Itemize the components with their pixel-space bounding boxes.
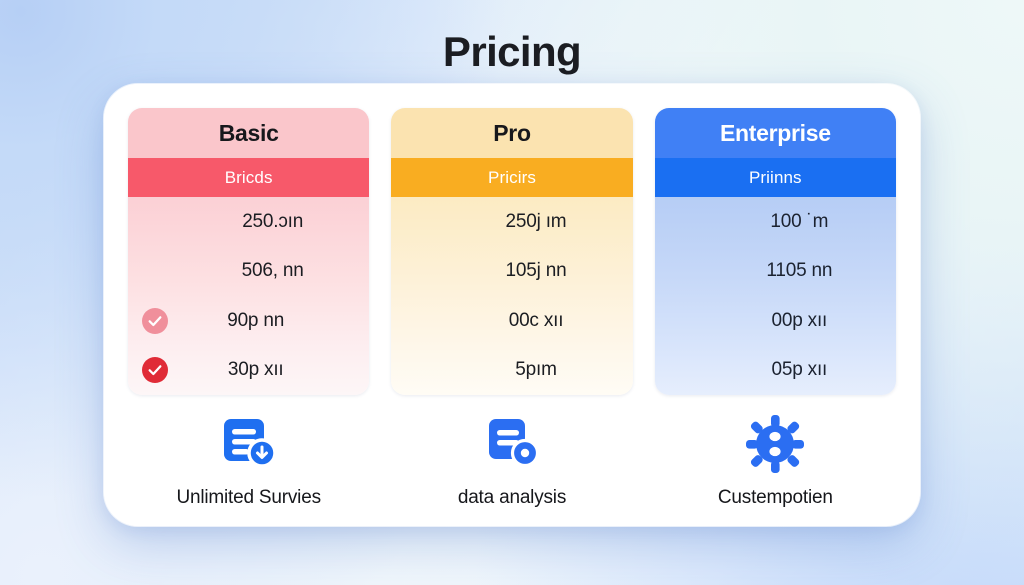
- row-label: 105ј nn: [439, 260, 632, 282]
- plan-title-pro: Pro: [391, 108, 632, 158]
- pricing-column-enterprise: Enterprise Priinns 100 ˙m 1105 nn 00p xı…: [655, 108, 896, 509]
- table-row[interactable]: 105ј nn: [391, 247, 632, 297]
- table-row[interactable]: 90p nn: [128, 296, 369, 346]
- plan-subheader-enterprise: Priinns: [655, 158, 896, 197]
- table-row[interactable]: 250.ɔın: [128, 197, 369, 247]
- row-label: 506, nn: [176, 260, 369, 282]
- row-label: 00p xıı: [703, 310, 896, 332]
- feature-pro: data analysis: [391, 413, 632, 509]
- document-chart-icon: [481, 413, 543, 475]
- row-label: 250ј ım: [439, 211, 632, 233]
- row-label: 00c xıı: [439, 310, 632, 332]
- page-title: Pricing: [0, 28, 1024, 76]
- pricing-column-basic: Basic Bricds 250.ɔın 506, nn: [128, 108, 369, 509]
- table-row[interactable]: 05p xıı: [655, 346, 896, 396]
- row-label: 250.ɔın: [176, 211, 369, 233]
- plan-subheader-pro: Pricirs: [391, 158, 632, 197]
- row-label: 100 ˙m: [703, 211, 896, 233]
- plan-card-enterprise[interactable]: Enterprise Priinns 100 ˙m 1105 nn 00p xı…: [655, 108, 896, 395]
- check-icon-solid: [142, 357, 168, 383]
- plan-rows-basic: 250.ɔın 506, nn 90p nn: [128, 197, 369, 395]
- table-row[interactable]: 1105 nn: [655, 247, 896, 297]
- table-row[interactable]: 5pım: [391, 346, 632, 396]
- feature-label: Custempotien: [718, 487, 833, 509]
- table-row[interactable]: 00p xıı: [655, 296, 896, 346]
- plan-rows-enterprise: 100 ˙m 1105 nn 00p xıı 05p xıı: [655, 197, 896, 395]
- table-row[interactable]: 30p xıı: [128, 346, 369, 396]
- pricing-panel: Basic Bricds 250.ɔın 506, nn: [104, 84, 920, 526]
- row-label: 30p xıı: [176, 359, 369, 381]
- table-row[interactable]: 506, nn: [128, 247, 369, 297]
- pricing-column-pro: Pro Pricirs 250ј ım 105ј nn 00c xıı: [391, 108, 632, 509]
- table-row[interactable]: 100 ˙m: [655, 197, 896, 247]
- document-download-icon: [218, 413, 280, 475]
- row-label: 90p nn: [176, 310, 369, 332]
- feature-label: data analysis: [458, 487, 566, 509]
- feature-label: Unlimited Survies: [176, 487, 320, 509]
- feature-basic: Unlimited Survies: [128, 413, 369, 509]
- feature-enterprise: Custempotien: [655, 413, 896, 509]
- plan-rows-pro: 250ј ım 105ј nn 00c xıı 5pım: [391, 197, 632, 395]
- plan-subheader-basic: Bricds: [128, 158, 369, 197]
- row-label: 05p xıı: [703, 359, 896, 381]
- pricing-columns: Basic Bricds 250.ɔın 506, nn: [128, 108, 896, 509]
- plan-card-pro[interactable]: Pro Pricirs 250ј ım 105ј nn 00c xıı: [391, 108, 632, 395]
- table-row[interactable]: 250ј ım: [391, 197, 632, 247]
- row-label: 1105 nn: [703, 260, 896, 282]
- plan-title-enterprise: Enterprise: [655, 108, 896, 158]
- table-row[interactable]: 00c xıı: [391, 296, 632, 346]
- row-label: 5pım: [439, 359, 632, 381]
- plan-card-basic[interactable]: Basic Bricds 250.ɔın 506, nn: [128, 108, 369, 395]
- plan-title-basic: Basic: [128, 108, 369, 158]
- check-icon-faded: [142, 308, 168, 334]
- gear-icon: [746, 413, 804, 475]
